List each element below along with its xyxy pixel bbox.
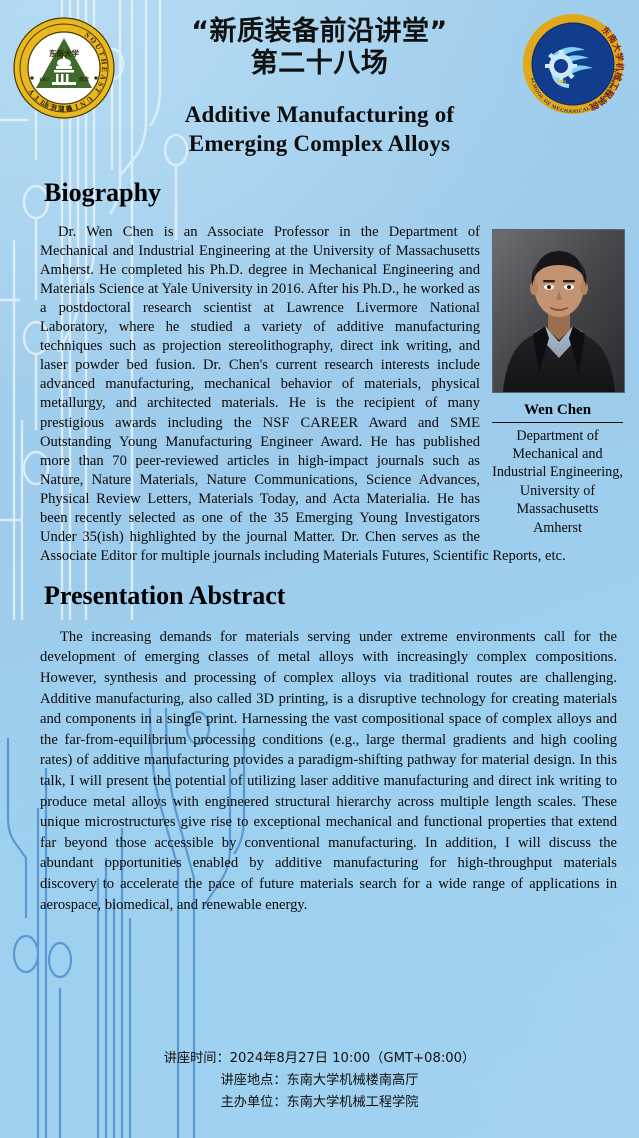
abstract-body-text: The increasing demands for materials ser… [40, 629, 617, 913]
poster-title-en-line1: Additive Manufacturing of [0, 100, 639, 129]
event-details-footer: 讲座时间：2024年8月27日 10:00（GMT+08:00） 讲座地点：东南… [0, 1048, 639, 1114]
poster-title-cn-line2: 第二十八场 [0, 48, 639, 80]
svg-text:1986: 1986 [556, 80, 567, 85]
biography-body-text: Dr. Wen Chen is an Associate Professor i… [40, 224, 566, 565]
event-time-line: 讲座时间：2024年8月27日 10:00（GMT+08:00） [0, 1048, 639, 1070]
biography-section: Wen Chen Department of Mechanical and In… [0, 223, 639, 567]
event-organizer-line: 主办单位：东南大学机械工程学院 [0, 1092, 639, 1114]
poster-title-english: Additive Manufacturing of Emerging Compl… [0, 100, 639, 158]
speaker-affiliation: Department of Mechanical and Industrial … [492, 427, 623, 537]
speaker-portrait-photo [492, 229, 625, 393]
seminar-poster: 1902 南京 东南大学 SOUTHEAST UNIVERSITY 止于至善 [0, 0, 639, 1138]
poster-header: 1902 南京 东南大学 SOUTHEAST UNIVERSITY 止于至善 [0, 0, 639, 176]
poster-title-en-line2: Emerging Complex Alloys [0, 129, 639, 158]
poster-title-chinese: “新质装备前沿讲堂” 第二十八场 [0, 16, 639, 80]
poster-title-cn-line1: “新质装备前沿讲堂” [0, 16, 639, 48]
portrait-illustration [493, 230, 624, 392]
abstract-heading: Presentation Abstract [44, 581, 639, 611]
speaker-card: Wen Chen Department of Mechanical and In… [492, 229, 623, 537]
abstract-paragraph: The increasing demands for materials ser… [40, 627, 617, 915]
speaker-name: Wen Chen [492, 402, 623, 423]
abstract-section: The increasing demands for materials ser… [0, 627, 639, 915]
event-venue-line: 讲座地点：东南大学机械楼南高厅 [0, 1070, 639, 1092]
biography-heading: Biography [44, 178, 639, 208]
